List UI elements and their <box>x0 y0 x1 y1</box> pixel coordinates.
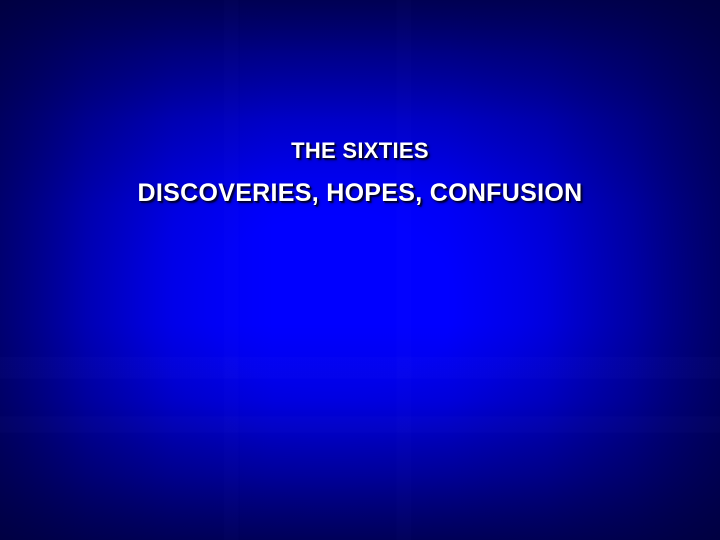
slide-background-gradient <box>0 0 720 540</box>
slide-background-banding <box>0 0 720 540</box>
slide-background-vignette <box>0 0 720 540</box>
presentation-slide: THE SIXTIES DISCOVERIES, HOPES, CONFUSIO… <box>0 0 720 540</box>
slide-subtitle: DISCOVERIES, HOPES, CONFUSION <box>0 180 720 207</box>
slide-title: THE SIXTIES <box>0 139 720 163</box>
